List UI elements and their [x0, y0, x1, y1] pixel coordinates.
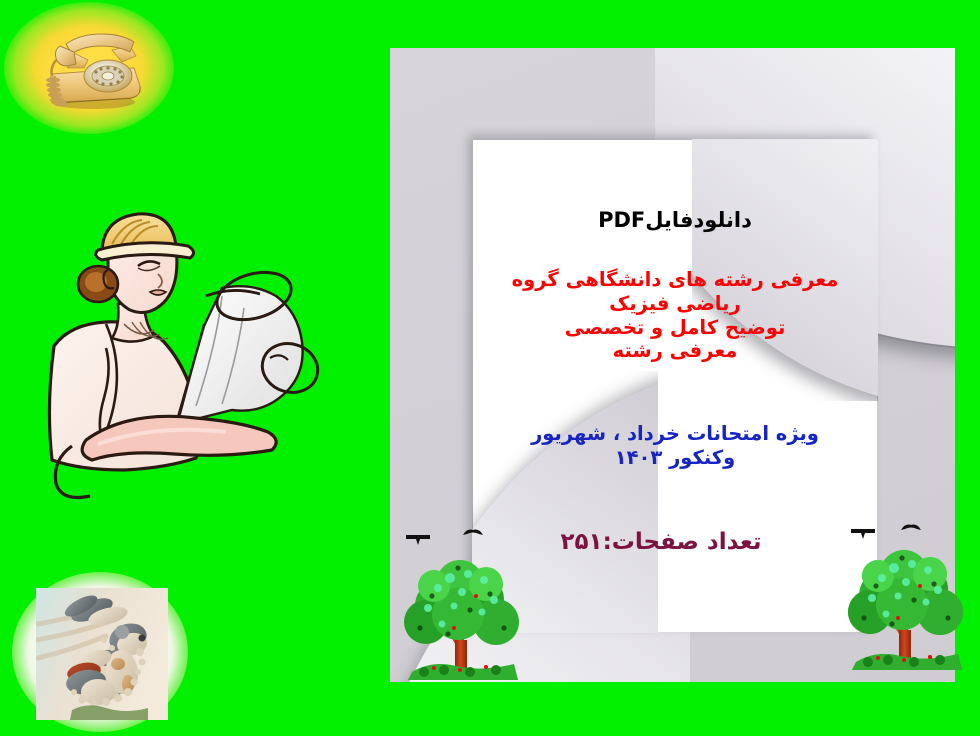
course-headline: معرفی رشته های دانشگاهی گروه ریاضی فیزیک…: [473, 268, 877, 363]
bird-icon: [462, 527, 484, 539]
stone-rabbit-badge-glow: [12, 572, 188, 732]
tree-icon: [398, 548, 538, 683]
exam-subject-line: ویژه امتحانات خرداد ، شهریور وکنکور ۱۴۰۳: [473, 422, 877, 470]
tree-icon: [842, 538, 980, 673]
bird-icon: [405, 533, 431, 547]
slide-canvas: دانلودفایلPDF معرفی رشته های دانشگاهی گر…: [0, 0, 980, 736]
rotary-telephone-icon: [30, 24, 150, 116]
download-pdf-title: دانلودفایلPDF: [473, 208, 877, 234]
stone-rabbit-icon: [36, 588, 168, 720]
bird-icon: [900, 522, 922, 534]
phone-badge-glow: [4, 2, 174, 134]
bird-icon: [850, 527, 876, 541]
engineer-with-blueprint-icon: [46, 196, 356, 506]
